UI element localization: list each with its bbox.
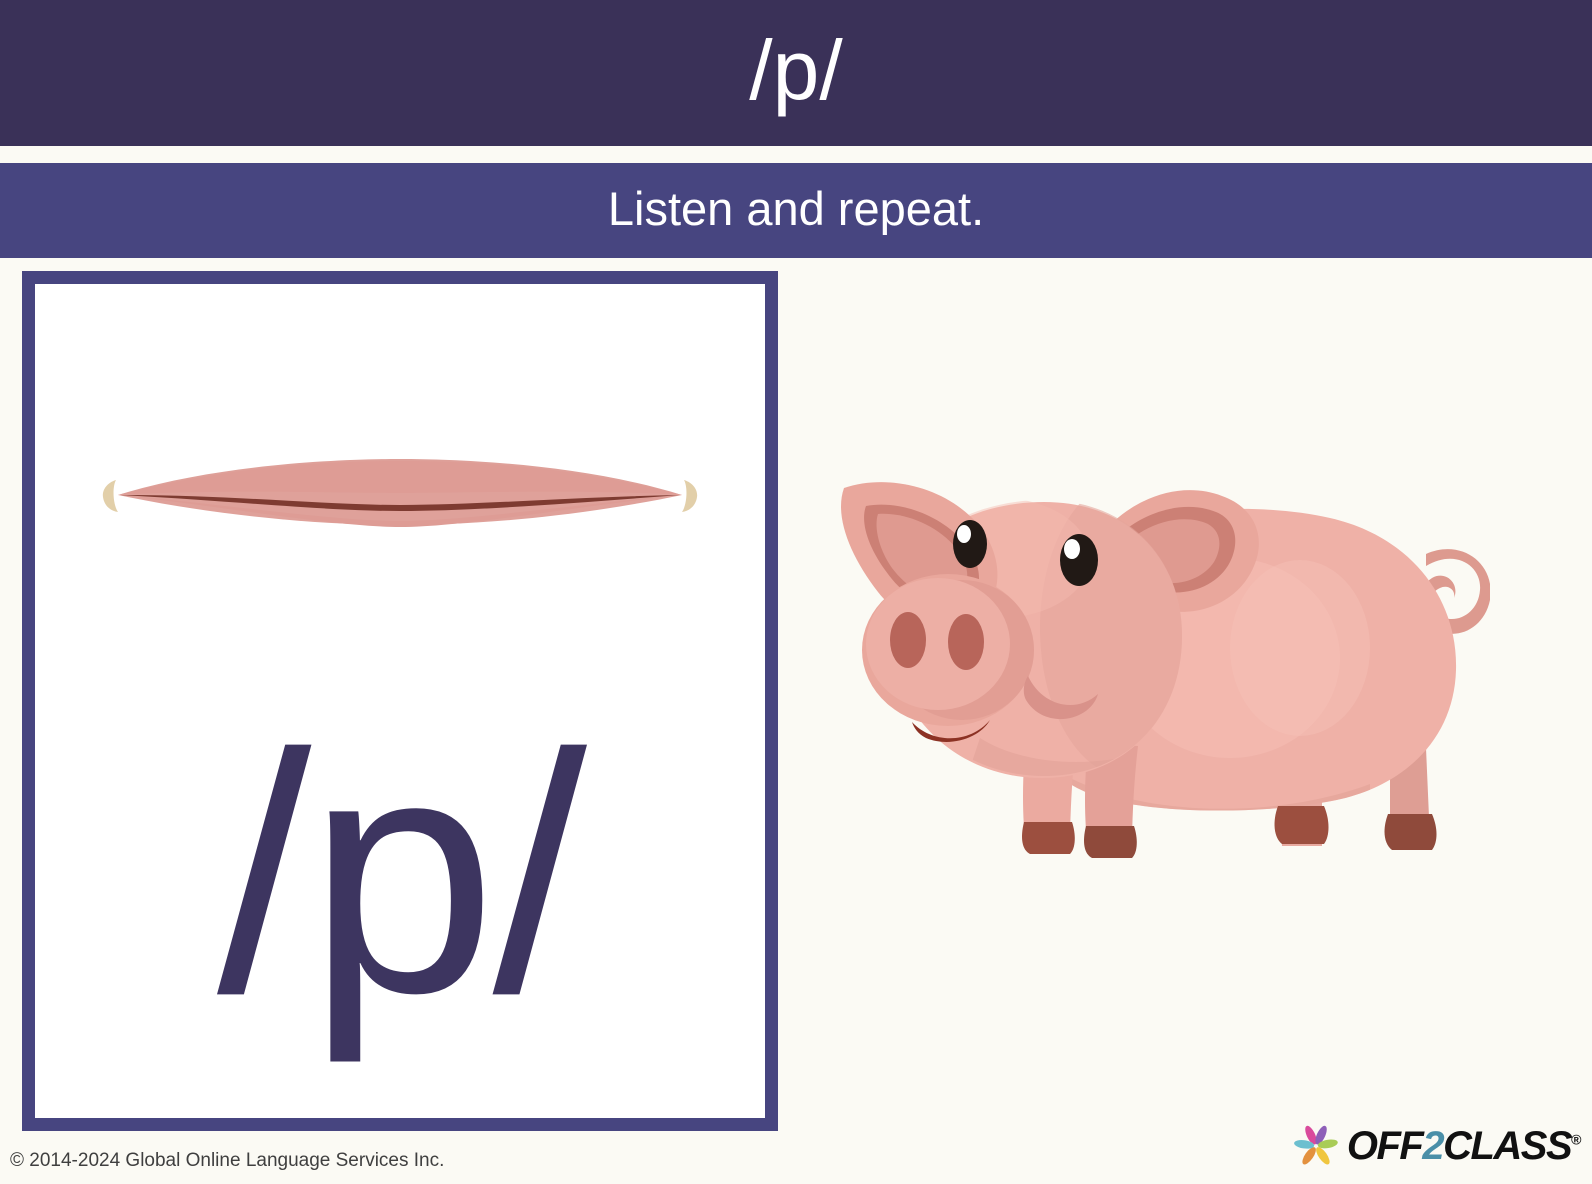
- page-title: /p/: [749, 28, 842, 118]
- brand-prefix: OFF: [1347, 1124, 1422, 1168]
- copyright-text: © 2014-2024 Global Online Language Servi…: [10, 1151, 444, 1170]
- pig-hooves: [1022, 806, 1437, 858]
- pig-illustration: [830, 378, 1490, 898]
- pig-snout: [862, 574, 1034, 726]
- instruction-band: Listen and repeat.: [0, 163, 1592, 258]
- closed-lips-mouth-icon: [94, 459, 706, 531]
- brand-suffix: CLASS: [1443, 1124, 1571, 1168]
- title-band: /p/: [0, 0, 1592, 146]
- pig-eye-right: [1060, 534, 1098, 586]
- instruction-text: Listen and repeat.: [608, 185, 984, 236]
- brand-wordmark: OFF2CLASS®: [1347, 1126, 1580, 1166]
- band-divider-gap: [0, 146, 1592, 163]
- brand-registered-mark: ®: [1571, 1132, 1580, 1148]
- pinwheel-icon: [1293, 1123, 1339, 1169]
- pig-eye-left: [953, 520, 987, 568]
- phoneme-symbol: /p/: [35, 704, 765, 1044]
- off2class-logo: OFF2CLASS®: [1293, 1118, 1580, 1174]
- phoneme-card: /p/: [22, 271, 778, 1131]
- brand-two: 2: [1422, 1124, 1443, 1168]
